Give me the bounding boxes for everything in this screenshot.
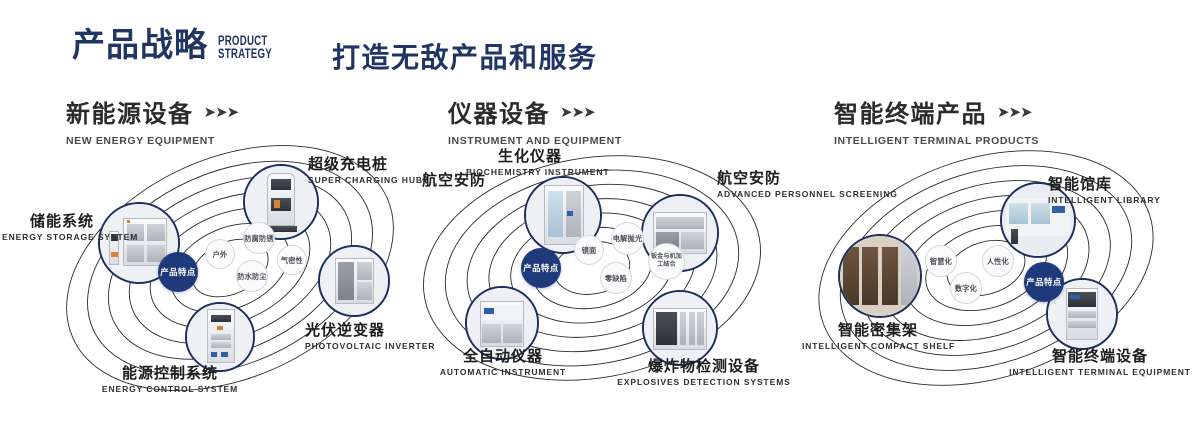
feature-bubble-waterproof[interactable]: 防水防尘 [236, 260, 268, 292]
feature-label: 防腐防锈 [244, 234, 274, 243]
feature-bubble-mirror[interactable]: 镜面 [574, 235, 604, 265]
label-en: AUTOMATIC INSTRUMENT [418, 367, 588, 378]
page-subtitle: 打造无敌产品和服务 [332, 36, 598, 76]
title-en: PRODUCT STRATEGY [218, 34, 272, 60]
photovoltaic-inverter-image [320, 247, 388, 315]
chevron-right-icon: ➤➤➤ [560, 103, 595, 121]
chevron-right-icon: ➤➤➤ [997, 103, 1032, 121]
feature-bubble-zero-defect[interactable]: 零缺陷 [600, 262, 632, 294]
label-cn: 智能密集架 [802, 322, 954, 339]
section-title-cn: 智能终端产品 [834, 94, 987, 129]
feature-label: 电解抛光 [613, 234, 643, 243]
compact-shelf-image [840, 236, 920, 316]
label-cn: 生化仪器 [466, 148, 594, 165]
title-en-line2: STRATEGY [218, 47, 272, 60]
feature-bubble-electropolishing[interactable]: 电解抛光 [611, 222, 644, 255]
feature-bubble-main[interactable]: 产品特点 [158, 252, 198, 292]
label-cn: 爆炸物检测设备 [604, 358, 804, 375]
label-intelligent-terminal-equipment: 智能终端设备 INTELLIGENT TERMINAL EQUIPMENT [1000, 348, 1200, 378]
feature-bubble-anticorrosion[interactable]: 防腐防锈 [243, 222, 275, 254]
feature-bubble-main[interactable]: 产品特点 [1024, 262, 1064, 302]
feature-bubble-digital[interactable]: 数字化 [950, 272, 982, 304]
feature-bubble-main[interactable]: 产品特点 [521, 248, 561, 288]
label-energy-control-system: 能源控制系统 ENERGY CONTROL SYSTEM [80, 365, 260, 395]
feature-main-label: 产品特点 [523, 263, 559, 274]
section-title-en: INSTRUMENT AND EQUIPMENT [448, 135, 622, 147]
label-energy-storage: 储能系统 ENERGY STORAGE SYSTEM [2, 213, 94, 243]
label-en: INTELLIGENT LIBRARY [1048, 195, 1161, 206]
section-title-en: NEW ENERGY EQUIPMENT [66, 135, 238, 147]
section-heading-intelligent-terminal: 智能终端产品 ➤➤➤ INTELLIGENT TERMINAL PRODUCTS [834, 94, 1039, 147]
feature-label: 数字化 [955, 284, 977, 293]
feature-main-label: 产品特点 [160, 267, 196, 278]
feature-label: 智慧化 [930, 257, 952, 266]
label-intelligent-library: 智能馆库 INTELLIGENT LIBRARY [1048, 176, 1161, 206]
label-en: INTELLIGENT TERMINAL EQUIPMENT [1000, 367, 1200, 378]
label-automatic-instrument: 全自动仪器 AUTOMATIC INSTRUMENT [418, 348, 588, 378]
section-heading-new-energy: 新能源设备 ➤➤➤ NEW ENERGY EQUIPMENT [66, 94, 238, 147]
product-circle-intelligent-compact-shelf[interactable] [838, 234, 922, 318]
section-title-en: INTELLIGENT TERMINAL PRODUCTS [834, 135, 1039, 147]
feature-label: 户外 [213, 250, 228, 259]
product-circle-photovoltaic-inverter[interactable] [318, 245, 390, 317]
feature-bubble-outdoor[interactable]: 户外 [205, 239, 235, 269]
chevron-right-icon: ➤➤➤ [204, 103, 239, 121]
page-title: 产品战略 PRODUCT STRATEGY [72, 28, 293, 61]
label-intelligent-compact-shelf: 智能密集架 INTELLIGENT COMPACT SHELF [802, 322, 954, 352]
label-en: INTELLIGENT COMPACT SHELF [802, 341, 954, 352]
feature-label: 零缺陷 [605, 274, 627, 283]
label-cn: 能源控制系统 [80, 365, 260, 382]
label-cn: 智能终端设备 [1000, 348, 1200, 365]
product-circle-explosives-detection[interactable] [642, 290, 718, 366]
label-biochemistry-instrument: 生化仪器 BIOCHEMISTRY INSTRUMENT [466, 148, 594, 178]
label-en: BIOCHEMISTRY INSTRUMENT [466, 167, 594, 178]
label-en: ENERGY CONTROL SYSTEM [80, 384, 260, 395]
cluster-new-energy: 储能系统 ENERGY STORAGE SYSTEM 超级充电桩 SUPER C… [40, 150, 440, 400]
label-cn: 超级充电桩 [308, 156, 423, 173]
feature-label: 气密性 [281, 256, 303, 265]
section-title-cn: 新能源设备 [66, 94, 194, 129]
feature-label: 镜面 [582, 246, 597, 255]
label-explosives-detection: 爆炸物检测设备 EXPLOSIVES DETECTION SYSTEMS [604, 358, 804, 388]
feature-bubble-airtight[interactable]: 气密性 [277, 245, 307, 275]
feature-label: 防水防尘 [237, 272, 267, 281]
feature-main-label: 产品特点 [1026, 277, 1062, 288]
feature-bubble-humanized[interactable]: 人性化 [982, 245, 1014, 277]
label-cn: 光伏逆变器 [305, 322, 435, 339]
cluster-intelligent-terminal: 智能馆库 INTELLIGENT LIBRARY 智能密集架 INTELLIGE… [808, 150, 1200, 400]
infographic-canvas: 产品战略 PRODUCT STRATEGY 打造无敌产品和服务 新能源设备 ➤➤… [0, 0, 1200, 422]
feature-label: 人性化 [987, 257, 1009, 266]
feature-bubble-sheetmetal-machining[interactable]: 钣金与机加工结合 [648, 243, 685, 280]
label-cn: 智能馆库 [1048, 176, 1161, 193]
feature-bubble-intelligent[interactable]: 智慧化 [925, 245, 957, 277]
label-en: ENERGY STORAGE SYSTEM [2, 232, 94, 243]
section-title-cn: 仪器设备 [448, 94, 550, 129]
cluster-instrument: 航空安防 生化仪器 BIOCHEMISTRY INSTRUMENT 航空安防 [424, 150, 814, 400]
label-en: EXPLOSIVES DETECTION SYSTEMS [604, 377, 804, 388]
label-photovoltaic-inverter: 光伏逆变器 PHOTOVOLTAIC INVERTER [305, 322, 435, 352]
title-cn: 产品战略 [72, 28, 208, 61]
label-en: PHOTOVOLTAIC INVERTER [305, 341, 435, 352]
explosives-detection-image [644, 292, 716, 364]
label-cn: 全自动仪器 [418, 348, 588, 365]
energy-control-image [187, 304, 253, 370]
section-heading-instrument: 仪器设备 ➤➤➤ INSTRUMENT AND EQUIPMENT [448, 94, 622, 147]
feature-label: 钣金与机加工结合 [649, 254, 684, 269]
product-circle-energy-control-system[interactable] [185, 302, 255, 372]
label-cn: 储能系统 [2, 213, 94, 230]
